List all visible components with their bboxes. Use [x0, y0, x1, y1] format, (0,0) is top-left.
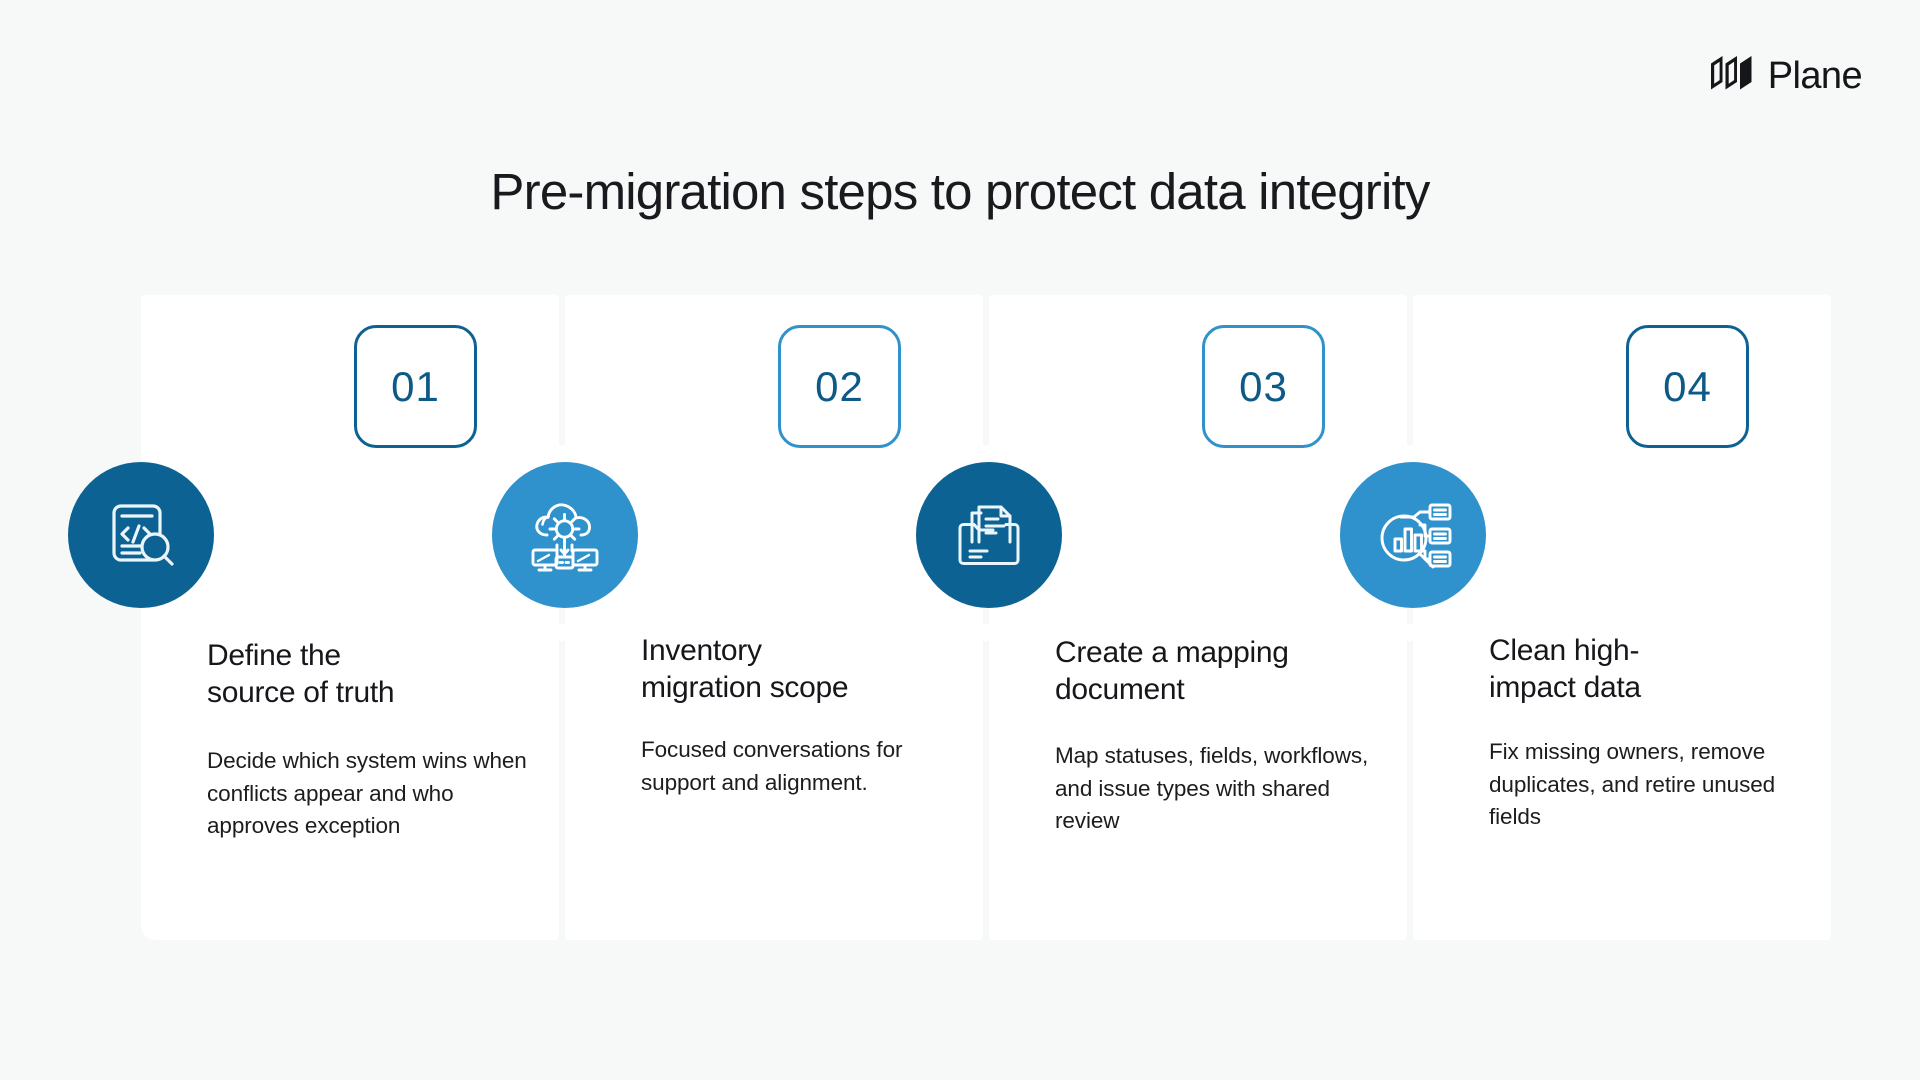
step-card-3: 03 Create a mapping d [989, 295, 1407, 940]
step-number-badge-4: 04 [1626, 325, 1749, 448]
step-icon-circle-2 [492, 462, 638, 608]
folder-documents-icon [948, 494, 1030, 576]
steps-container: 01 Define the source of truth Decide [141, 295, 1831, 940]
step-icon-circle-3 [916, 462, 1062, 608]
step-heading-3: Create a mapping document [1055, 635, 1377, 708]
brand-logo: Plane [1711, 56, 1862, 95]
step-number-label: 01 [391, 366, 440, 408]
step-heading-2: Inventory migration scope [641, 633, 953, 706]
step-card-4: 04 [1413, 295, 1831, 940]
data-analysis-search-icon [1371, 493, 1455, 577]
step-text-4: Clean high- impact data Fix missing owne… [1489, 633, 1801, 833]
step-body-4: Fix missing owners, remove duplicates, a… [1489, 736, 1801, 833]
step-icon-circle-1 [68, 462, 214, 608]
step-text-3: Create a mapping document Map statuses, … [1055, 635, 1377, 837]
step-card-1: 01 Define the source of truth Decide [141, 295, 559, 940]
step-number-label: 04 [1663, 366, 1712, 408]
step-number-badge-2: 02 [778, 325, 901, 448]
step-body-1: Decide which system wins when conflicts … [207, 745, 529, 842]
step-number-badge-3: 03 [1202, 325, 1325, 448]
step-card-2: 02 [565, 295, 983, 940]
step-body-3: Map statuses, fields, workflows, and iss… [1055, 740, 1377, 837]
step-number-label: 03 [1239, 366, 1288, 408]
step-number-label: 02 [815, 366, 864, 408]
step-number-badge-1: 01 [354, 325, 477, 448]
step-heading-4: Clean high- impact data [1489, 633, 1801, 706]
step-text-1: Define the source of truth Decide which … [207, 638, 529, 842]
code-document-search-icon [100, 494, 182, 576]
step-heading-1: Define the source of truth [207, 638, 529, 711]
step-body-2: Focused conversations for support and al… [641, 734, 953, 799]
step-icon-circle-4 [1340, 462, 1486, 608]
cloud-gear-network-icon [523, 493, 607, 577]
plane-logo-mark-icon [1711, 56, 1755, 95]
brand-name: Plane [1768, 57, 1862, 95]
page-title: Pre-migration steps to protect data inte… [0, 164, 1920, 220]
step-text-2: Inventory migration scope Focused conver… [641, 633, 953, 799]
